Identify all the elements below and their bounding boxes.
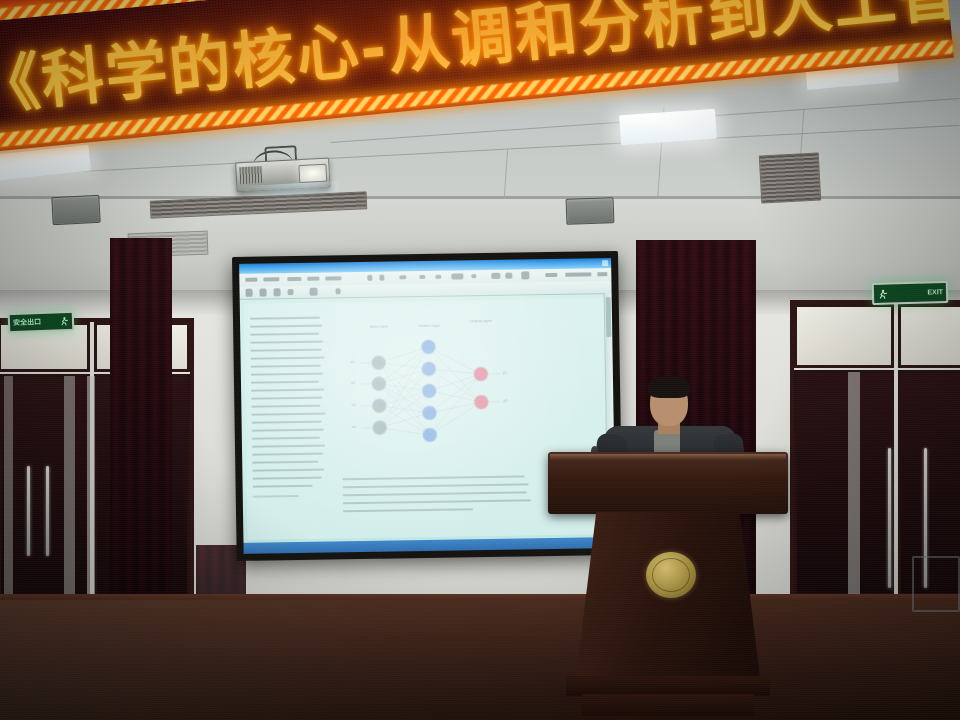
exit-sign-label-cn: 安全出口: [13, 319, 41, 327]
ceiling-speaker: [566, 197, 615, 225]
tools-panel-button[interactable]: [545, 273, 557, 277]
floor-reflection: [0, 600, 960, 720]
input-node-label: x1: [351, 359, 355, 364]
air-vent: [759, 152, 821, 203]
info-icon[interactable]: [505, 273, 512, 279]
previous-page-icon[interactable]: [419, 275, 425, 279]
podium-plinth: [582, 694, 754, 716]
menu-item-view[interactable]: [287, 277, 301, 281]
presenter-hair: [648, 376, 690, 398]
page-fit-icon[interactable]: [491, 273, 500, 279]
menu-item-file[interactable]: [245, 278, 257, 282]
podium-base: [566, 676, 770, 696]
zoom-level-field[interactable]: [451, 273, 463, 279]
zoom-out-icon[interactable]: [367, 275, 372, 281]
next-page-icon[interactable]: [435, 275, 441, 279]
highlight-icon[interactable]: [521, 271, 529, 279]
open-icon[interactable]: [246, 289, 253, 297]
input-node-label: x4: [352, 424, 356, 429]
exit-sign-right: EXIT: [872, 281, 949, 305]
projector-lens-icon: [298, 164, 327, 183]
exit-sign-left: 安全出口: [8, 311, 75, 333]
podium-top: [548, 452, 788, 514]
door-leaf-left[interactable]: [0, 374, 90, 606]
podium: [548, 452, 788, 720]
exit-sign-label-en: EXIT: [927, 289, 943, 296]
hidden-layer-label: Hidden layer: [408, 323, 450, 330]
menu-item-edit[interactable]: [263, 277, 279, 281]
zoom-in-icon[interactable]: [379, 275, 384, 281]
hidden-node: [422, 362, 436, 376]
chair[interactable]: [912, 556, 960, 612]
university-seal-emblem: [646, 552, 696, 598]
door-trim: [64, 376, 75, 604]
email-icon[interactable]: [288, 289, 294, 295]
door-handle[interactable]: [27, 466, 30, 556]
door-trim: [4, 376, 13, 604]
input-node-label: x3: [351, 402, 355, 407]
ceiling-speaker: [51, 195, 100, 225]
lecture-hall-scene: 《科学的核心-从调和分析到人工智能》 安全出口: [0, 0, 960, 720]
input-node-label: x2: [351, 380, 355, 385]
double-door-right[interactable]: [790, 300, 960, 600]
running-man-icon: [877, 288, 888, 299]
input-node: [372, 356, 386, 370]
page-number-field[interactable]: [399, 275, 406, 279]
select-tool-icon[interactable]: [309, 288, 317, 296]
paper-left-column: [244, 298, 604, 304]
output-node-label: y1: [503, 370, 507, 375]
marquee-zoom-icon[interactable]: [336, 288, 341, 294]
door-handle[interactable]: [888, 448, 891, 588]
ceiling-projector: [235, 158, 329, 199]
door-handle[interactable]: [46, 466, 49, 556]
emblem-inner-ring: [652, 558, 690, 592]
output-layer-label: Output layer: [460, 318, 502, 325]
neural-network-figure: Input layer Hidden layer Output layer x1: [340, 315, 522, 466]
fill-and-sign-button[interactable]: [565, 272, 591, 276]
comment-panel-button[interactable]: [597, 272, 607, 276]
projector-vent: [239, 166, 262, 184]
print-icon[interactable]: [273, 288, 280, 296]
window-close-icon[interactable]: [602, 260, 608, 266]
stage-curtain-left: [110, 238, 172, 610]
door-trim: [848, 372, 860, 594]
menu-item-document[interactable]: [307, 277, 319, 281]
menu-item-tools[interactable]: [325, 276, 341, 280]
input-layer-label: Input layer: [358, 323, 400, 330]
chevron-down-icon[interactable]: [471, 274, 476, 278]
running-man-icon: [59, 316, 69, 326]
door-transom-window: [794, 304, 894, 368]
scrollbar-thumb[interactable]: [606, 297, 612, 337]
door-transom-window: [898, 304, 960, 368]
podium-top-highlight: [550, 454, 786, 460]
output-node-label: y2: [503, 398, 507, 403]
door-trim: [87, 376, 95, 604]
door-leaf-left[interactable]: [794, 370, 894, 596]
save-icon[interactable]: [259, 288, 266, 296]
